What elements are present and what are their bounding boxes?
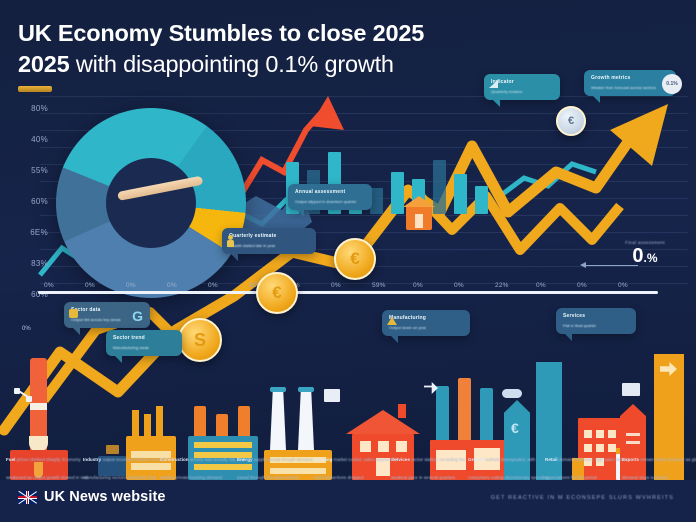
icon-caption-title: Growth xyxy=(468,457,485,462)
callout-trend[interactable]: Sector trend Manufacturing weak xyxy=(106,330,182,356)
x-tick-label: 0% xyxy=(413,282,423,289)
callout-title: Sector trend xyxy=(113,335,175,343)
callout-body: Output down on year xyxy=(389,325,463,332)
x-tick-label: 0% xyxy=(44,282,54,289)
headline-line-1: UK Economy Stumbles to close 2025 xyxy=(18,20,424,46)
x-tick-label: 0% xyxy=(618,282,628,289)
chart-bar xyxy=(391,172,404,214)
coin-icon-3: € xyxy=(334,238,376,280)
footer-tagline: GET REACTIVE IN M ECONSEPE SLURS WVHREIT… xyxy=(491,495,674,501)
callout-bars[interactable]: Annual assessment Output slipped in down… xyxy=(288,184,372,210)
icon-caption-title: Services xyxy=(391,457,411,462)
network-icon xyxy=(14,388,32,402)
stat-value: 0 xyxy=(632,245,643,267)
callout-title: Indicator xyxy=(491,79,553,87)
icon-caption-title: Exports xyxy=(622,457,640,462)
footer-bar: UK News website GET REACTIVE IN M ECONSE… xyxy=(0,480,696,522)
y-tick-label: 6E% xyxy=(4,228,48,237)
y-tick-label: 55% xyxy=(4,166,48,175)
y-tick-label: 80% xyxy=(4,104,48,113)
icon-caption: Services sector stalled, recording the w… xyxy=(391,448,477,484)
icon-caption-title: Industry xyxy=(83,457,102,462)
icon-caption-title: Retail xyxy=(545,457,559,462)
x-tick-label: 0% xyxy=(85,282,95,289)
headline-line-2-strong: 2025 xyxy=(18,51,76,77)
coin-icon-2: € xyxy=(256,272,298,314)
icon-caption-title: Fuel xyxy=(6,457,17,462)
cloud-icon xyxy=(502,389,522,398)
y-tick-label: 83% xyxy=(4,259,48,268)
callout-title: Growth metrics xyxy=(591,75,669,83)
callout-body: Flat in final quarter xyxy=(563,323,629,330)
callout-row-a[interactable]: Manufacturing Output down on year xyxy=(382,310,470,336)
y-tick-label: 40% xyxy=(4,135,48,144)
coin-icon-4: € xyxy=(556,106,586,136)
callout-top-b[interactable]: Growth metrics Weaker than forecast acro… xyxy=(584,70,676,96)
x-tick-label: 0% xyxy=(208,282,218,289)
page-title: UK Economy Stumbles to close 2025 2025 w… xyxy=(18,18,488,81)
house-marker-icon xyxy=(404,196,434,230)
chart-bar xyxy=(454,174,467,214)
headline-accent-rule xyxy=(18,86,52,92)
callout-title: Manufacturing xyxy=(389,315,463,323)
callout-body: Growth stalled late in year xyxy=(229,243,309,250)
icon-caption-title: Housing xyxy=(314,457,334,462)
currency-glyph-icon: € xyxy=(511,420,519,436)
chart-bar xyxy=(475,186,488,214)
stat-caption: Final assessment xyxy=(602,240,688,245)
icon-caption-title: Construction xyxy=(160,457,190,462)
callout-left[interactable]: Sector data Output fell across key areas… xyxy=(64,302,150,328)
x-tick-label: 22% xyxy=(495,282,509,289)
x-tick-label: 0% xyxy=(536,282,546,289)
x-tick-label: 0% xyxy=(331,282,341,289)
brand-name: UK News website xyxy=(44,489,166,505)
icon-caption: Housing market cooled, sales volumes fel… xyxy=(314,448,400,484)
icon-caption: Growth outlook downgraded, with consumer… xyxy=(468,448,554,484)
coin-icon-1: S xyxy=(178,318,222,362)
headline-stat: Final assessment 0.% xyxy=(602,240,688,267)
x-tick-label: 0% xyxy=(454,282,464,289)
y-axis-labels: 80%40%55%60%6E%83%60% xyxy=(4,104,50,299)
person-icon xyxy=(227,235,234,247)
x-tick-label: 59% xyxy=(372,282,386,289)
stat-unit: .% xyxy=(644,251,658,265)
brand[interactable]: UK News website xyxy=(18,489,166,505)
union-jack-flag xyxy=(18,491,37,504)
x-tick-label: 0% xyxy=(167,282,177,289)
callout-row-b[interactable]: Services Flat in final quarter xyxy=(556,308,636,334)
monitor-icon xyxy=(622,383,640,396)
icon-caption: Construction activity was broadly flat, … xyxy=(160,448,246,484)
icon-caption: Energy supply steady though demand eased… xyxy=(237,448,323,484)
callout-badge: 0.1% xyxy=(662,74,682,94)
chart-mini-icon xyxy=(69,309,78,318)
callout-body: Output slipped in downturn quarter xyxy=(295,199,365,206)
callout-body: Quarterly revision xyxy=(491,89,553,96)
callout-title: Annual assessment xyxy=(295,189,365,197)
callout-title: Quarterly estimate xyxy=(229,233,309,241)
callout-mid[interactable]: Quarterly estimate Growth stalled late i… xyxy=(222,228,316,254)
warning-icon xyxy=(387,317,397,325)
callout-body: Manufacturing weak xyxy=(113,345,175,352)
x-tick-label: 0% xyxy=(126,282,136,289)
callout-top-a[interactable]: Indicator Quarterly revision xyxy=(484,74,560,100)
document-icon xyxy=(324,389,340,402)
callout-title: Services xyxy=(563,313,629,321)
icon-caption: Retail demand softened, with sales below… xyxy=(545,448,631,484)
callout-badge-letter: G xyxy=(132,308,143,324)
icon-caption-title: Energy xyxy=(237,457,254,462)
y-tick-label: 60% xyxy=(4,197,48,206)
callout-body: Weaker than forecast across sectors xyxy=(591,85,669,92)
chimney-percent-label: 0% xyxy=(22,326,31,332)
x-axis-labels: 0%0%0%0%0%22%0%0%59%0%0%22%0%0%0% xyxy=(38,282,660,294)
icon-caption: Exports remain under pressure as global … xyxy=(622,448,696,484)
donut-chart xyxy=(56,108,246,298)
infographic-canvas: UK Economy Stumbles to close 2025 2025 w… xyxy=(0,0,696,522)
x-tick-label: 0% xyxy=(577,282,587,289)
headline-line-2-rest: with disappointing 0.1% growth xyxy=(76,51,394,77)
